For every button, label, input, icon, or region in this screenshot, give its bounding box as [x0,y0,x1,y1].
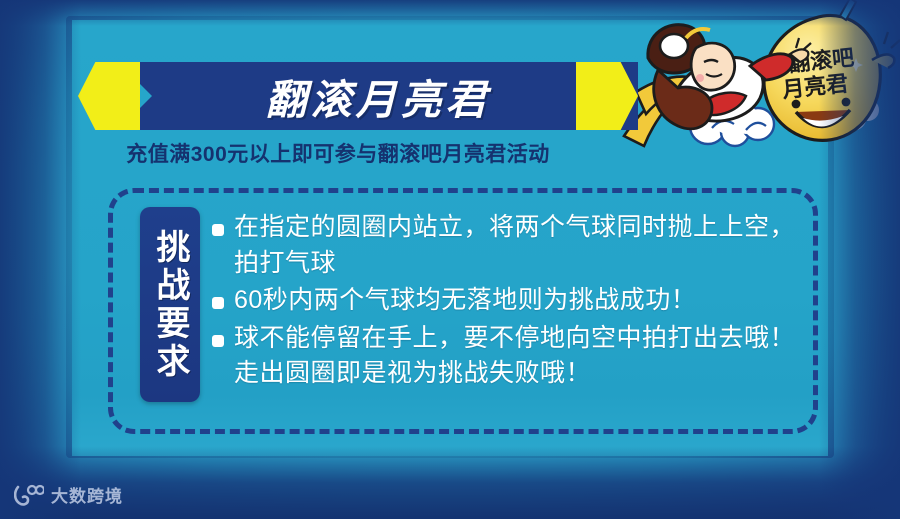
bullet-icon [212,335,224,347]
mascot-svg: 翻滚吧 月亮君 [600,0,900,174]
promo-poster: 翻滚吧 月亮君 [0,0,900,519]
bullet-icon [212,297,224,309]
list-item: 在指定的圆圈内站立，将两个气球同时抛上上空，拍打气球 [212,210,800,281]
brand-logo-icon [14,484,44,506]
list-item: 60秒内两个气球均无落地则为挑战成功！ [212,283,800,319]
challenge-requirements-label: 挑战要求 [140,207,200,402]
poster-subtitle: 充值满300元以上即可参与翻滚吧月亮君活动 [78,138,598,168]
watermark: 大数跨境 [14,482,123,507]
watermark-text: 大数跨境 [51,482,123,507]
header-ribbon: 翻滚月亮君 [78,62,638,130]
list-item: 球不能停留在手上，要不停地向空中拍打出去哦！走出圆圈即是视为挑战失败哦！ [212,321,800,392]
challenge-requirements-label-text: 挑战要求 [151,229,189,381]
poster-title: 翻滚月亮君 [118,62,638,130]
mascot-illustration: 翻滚吧 月亮君 [600,0,900,174]
list-item-text: 在指定的圆圈内站立，将两个气球同时抛上上空，拍打气球 [234,210,800,281]
requirements-list: 在指定的圆圈内站立，将两个气球同时抛上上空，拍打气球 60秒内两个气球均无落地则… [212,210,800,394]
bullet-icon [212,224,224,236]
list-item-text: 球不能停留在手上，要不停地向空中拍打出去哦！走出圆圈即是视为挑战失败哦！ [234,321,800,392]
list-item-text: 60秒内两个气球均无落地则为挑战成功！ [234,283,696,319]
